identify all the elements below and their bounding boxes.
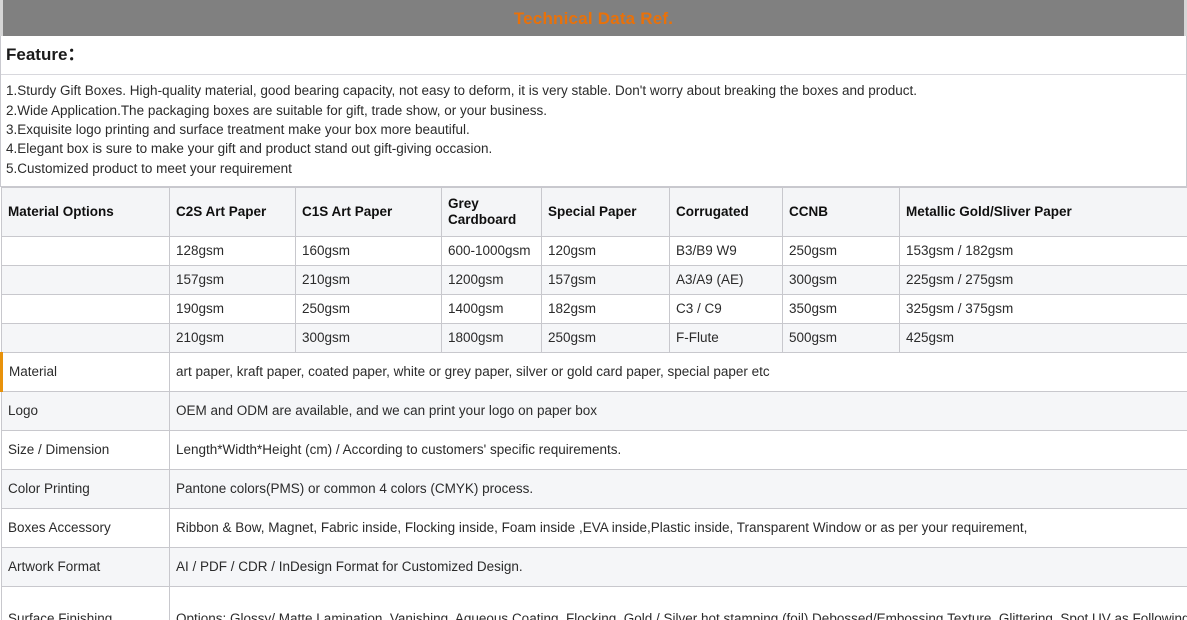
cell-metallic: 225gsm / 275gsm (900, 265, 1187, 294)
table-row: 157gsm 210gsm 1200gsm 157gsm A3/A9 (AE) … (2, 265, 1187, 294)
cell-grey-cardboard: 1800gsm (442, 323, 542, 352)
cell-grey-cardboard: 1200gsm (442, 265, 542, 294)
column-header-material-options: Material Options (2, 187, 170, 236)
cell-c2s: 190gsm (170, 294, 296, 323)
spec-label: Boxes Accessory (2, 508, 170, 547)
cell-ccnb: 350gsm (783, 294, 900, 323)
spec-label: Surface Finishing (2, 586, 170, 620)
spec-value: Ribbon & Bow, Magnet, Fabric inside, Flo… (170, 508, 1187, 547)
feature-heading: Feature： (1, 36, 1186, 75)
material-table-body: 128gsm 160gsm 600-1000gsm 120gsm B3/B9 W… (2, 236, 1187, 620)
cell-corrugated: B3/B9 W9 (670, 236, 783, 265)
specification-table: Material Options C2S Art Paper C1S Art P… (0, 187, 1187, 620)
feature-list: 1.Sturdy Gift Boxes. High-quality materi… (1, 75, 1186, 186)
column-header-c1s-art-paper: C1S Art Paper (296, 187, 442, 236)
feature-item: 1.Sturdy Gift Boxes. High-quality materi… (6, 81, 1181, 100)
cell-special-paper: 120gsm (542, 236, 670, 265)
cell-material-options (2, 265, 170, 294)
spec-label: Size / Dimension (2, 430, 170, 469)
cell-c2s: 210gsm (170, 323, 296, 352)
cell-ccnb: 300gsm (783, 265, 900, 294)
feature-section: Feature： 1.Sturdy Gift Boxes. High-quali… (0, 36, 1187, 187)
table-row: 128gsm 160gsm 600-1000gsm 120gsm B3/B9 W… (2, 236, 1187, 265)
spec-value: art paper, kraft paper, coated paper, wh… (170, 352, 1187, 391)
cell-corrugated: A3/A9 (AE) (670, 265, 783, 294)
page-title: Technical Data Ref. (514, 10, 673, 27)
spec-row-boxes-accessory: Boxes Accessory Ribbon & Bow, Magnet, Fa… (2, 508, 1187, 547)
table-row: 210gsm 300gsm 1800gsm 250gsm F-Flute 500… (2, 323, 1187, 352)
spec-row-surface-finishing: Surface Finishing Options: Glossy/ Matte… (2, 586, 1187, 620)
cell-c2s: 128gsm (170, 236, 296, 265)
cell-c2s: 157gsm (170, 265, 296, 294)
column-header-c2s-art-paper: C2S Art Paper (170, 187, 296, 236)
cell-grey-cardboard: 1400gsm (442, 294, 542, 323)
table-header-row: Material Options C2S Art Paper C1S Art P… (2, 187, 1187, 236)
cell-c1s: 160gsm (296, 236, 442, 265)
spec-label: Color Printing (2, 469, 170, 508)
column-header-corrugated: Corrugated (670, 187, 783, 236)
spec-value: Length*Width*Height (cm) / According to … (170, 430, 1187, 469)
cell-grey-cardboard: 600-1000gsm (442, 236, 542, 265)
cell-material-options (2, 323, 170, 352)
cell-special-paper: 157gsm (542, 265, 670, 294)
cell-metallic: 325gsm / 375gsm (900, 294, 1187, 323)
feature-item: 3.Exquisite logo printing and surface tr… (6, 120, 1181, 139)
cell-metallic: 425gsm (900, 323, 1187, 352)
spec-label: Logo (2, 391, 170, 430)
feature-item: 2.Wide Application.The packaging boxes a… (6, 101, 1181, 120)
cell-c1s: 210gsm (296, 265, 442, 294)
feature-item: 4.Elegant box is sure to make your gift … (6, 139, 1181, 158)
cell-corrugated: C3 / C9 (670, 294, 783, 323)
column-header-special-paper: Special Paper (542, 187, 670, 236)
spec-label: Artwork Format (2, 547, 170, 586)
spec-value: AI / PDF / CDR / InDesign Format for Cus… (170, 547, 1187, 586)
spec-value: Pantone colors(PMS) or common 4 colors (… (170, 469, 1187, 508)
spec-label: Material (2, 352, 170, 391)
spec-value: OEM and ODM are available, and we can pr… (170, 391, 1187, 430)
cell-special-paper: 250gsm (542, 323, 670, 352)
cell-ccnb: 500gsm (783, 323, 900, 352)
cell-material-options (2, 294, 170, 323)
cell-corrugated: F-Flute (670, 323, 783, 352)
cell-c1s: 250gsm (296, 294, 442, 323)
cell-ccnb: 250gsm (783, 236, 900, 265)
technical-data-page: Technical Data Ref. Feature： 1.Sturdy Gi… (0, 0, 1187, 620)
column-header-grey-cardboard: Grey Cardboard (442, 187, 542, 236)
column-header-ccnb: CCNB (783, 187, 900, 236)
spec-row-logo: Logo OEM and ODM are available, and we c… (2, 391, 1187, 430)
material-table-header: Material Options C2S Art Paper C1S Art P… (2, 187, 1187, 236)
spec-row-material: Material art paper, kraft paper, coated … (2, 352, 1187, 391)
cell-material-options (2, 236, 170, 265)
cell-special-paper: 182gsm (542, 294, 670, 323)
spec-row-size-dimension: Size / Dimension Length*Width*Height (cm… (2, 430, 1187, 469)
page-title-bar: Technical Data Ref. (0, 0, 1187, 36)
spec-row-color-printing: Color Printing Pantone colors(PMS) or co… (2, 469, 1187, 508)
cell-c1s: 300gsm (296, 323, 442, 352)
feature-item: 5.Customized product to meet your requir… (6, 159, 1181, 178)
spec-row-artwork-format: Artwork Format AI / PDF / CDR / InDesign… (2, 547, 1187, 586)
cell-metallic: 153gsm / 182gsm (900, 236, 1187, 265)
table-row: 190gsm 250gsm 1400gsm 182gsm C3 / C9 350… (2, 294, 1187, 323)
column-header-metallic-paper: Metallic Gold/Sliver Paper (900, 187, 1187, 236)
spec-value: Options: Glossy/ Matte Lamination, Vanis… (170, 586, 1187, 620)
